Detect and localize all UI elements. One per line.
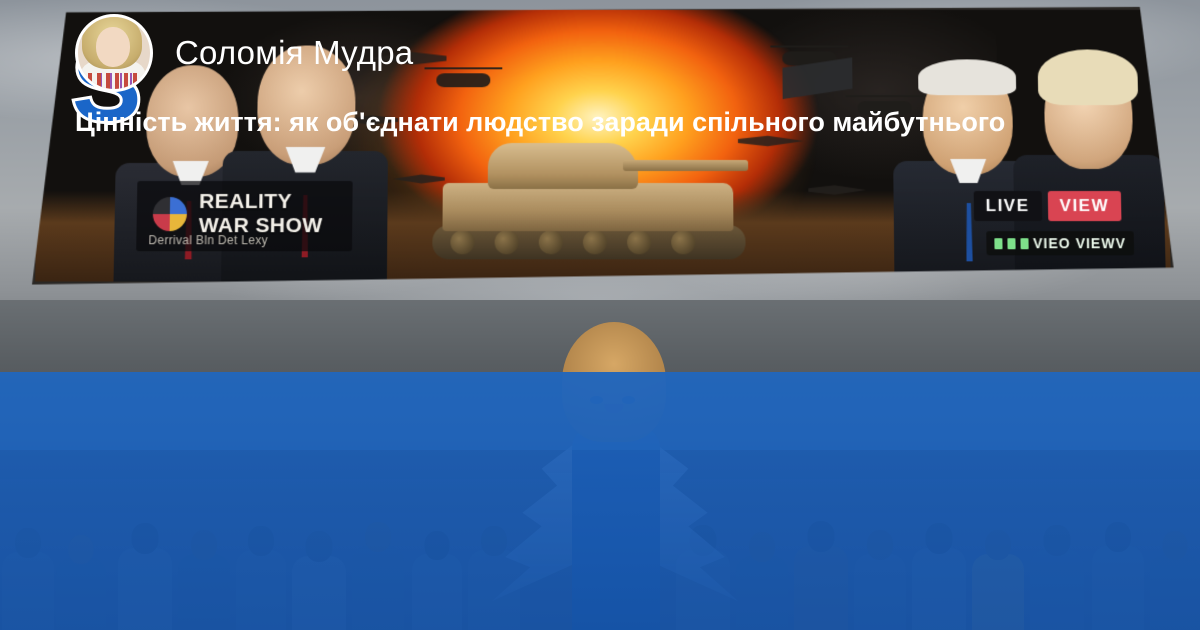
plaque-subtitle: Derrival Bln Det Lexy	[148, 233, 268, 247]
view-badge: VIEW	[1047, 191, 1121, 221]
tank-wheel	[495, 230, 519, 254]
portrait-hair	[1037, 49, 1138, 105]
tank-wheel	[450, 230, 474, 254]
tank-wheel	[583, 230, 607, 254]
avatar	[75, 14, 153, 92]
tank-wheel	[671, 230, 695, 254]
banner-top-strip	[0, 372, 1200, 450]
billboard-plaque: REALITY WAR SHOW Derrival Bln Det Lexy	[136, 181, 353, 251]
video-bar-icon	[1007, 238, 1015, 249]
plaque-title: REALITY WAR SHOW	[199, 191, 323, 236]
tank-barrel	[623, 160, 748, 171]
tank-illustration	[432, 119, 753, 259]
tank-wheel	[627, 230, 651, 254]
tank-wheel	[539, 230, 563, 254]
article-banner	[0, 372, 1200, 630]
video-indicator: VIEO VIEWV	[986, 231, 1134, 255]
helicopter-icon	[436, 73, 490, 87]
author-row: Соломія Мудра	[75, 14, 413, 92]
author-name: Соломія Мудра	[175, 34, 413, 72]
live-badge: LIVE	[973, 191, 1041, 221]
video-bar-icon	[994, 238, 1002, 249]
live-view-badges: LIVE VIEW	[973, 191, 1121, 221]
plaque-title-line1: REALITY	[199, 191, 323, 212]
video-bar-icon	[1020, 238, 1028, 249]
share-card: REALITY WAR SHOW Derrival Bln Det Lexy L…	[0, 0, 1200, 630]
avatar-embroidery	[88, 73, 138, 89]
plaque-logo-icon	[148, 193, 191, 235]
tank-turret	[488, 143, 638, 189]
video-label: VIEO VIEWV	[1033, 235, 1126, 251]
tank-hull	[442, 183, 733, 231]
avatar-face	[96, 27, 130, 67]
article-headline: Цінність життя: як об'єднати людство зар…	[75, 105, 1140, 139]
portrait-hair	[918, 59, 1016, 95]
